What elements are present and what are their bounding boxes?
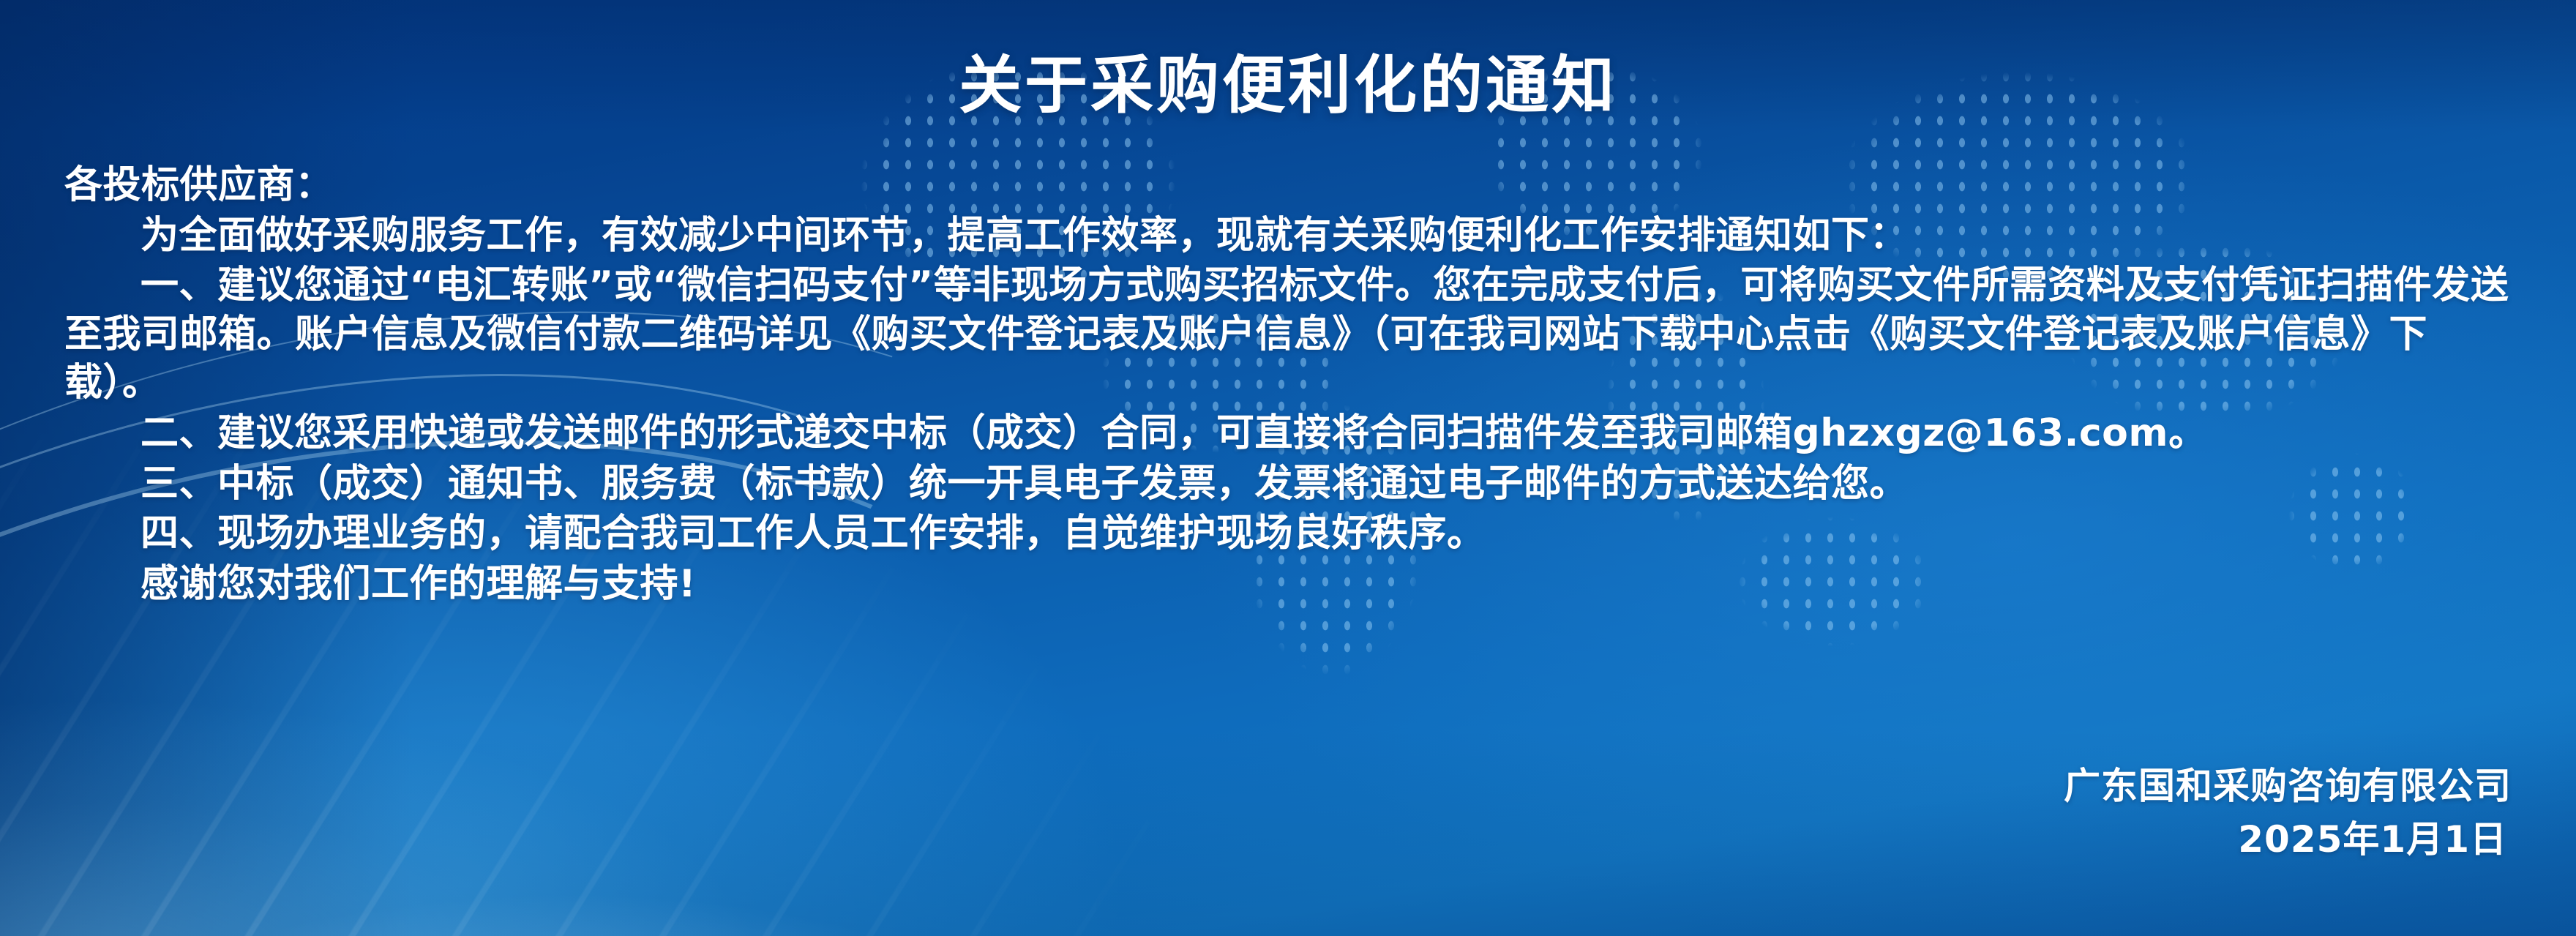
page-title: 关于采购便利化的通知 bbox=[64, 0, 2512, 119]
salutation: 各投标供应商： bbox=[64, 161, 2512, 210]
notice-banner: 关于采购便利化的通知 各投标供应商： 为全面做好采购服务工作，有效减少中间环节，… bbox=[0, 0, 2576, 936]
notice-paragraph-item-2: 二、建议您采用快递或发送邮件的形式递交中标（成交）合同，可直接将合同扫描件发至我… bbox=[64, 409, 2512, 458]
signature-block: 广东国和采购咨询有限公司 2025年1月1日 bbox=[2064, 760, 2512, 866]
notice-paragraph-item-4: 四、现场办理业务的，请配合我司工作人员工作安排，自觉维护现场良好秩序。 bbox=[64, 509, 2512, 558]
signature-date: 2025年1月1日 bbox=[2064, 813, 2512, 866]
notice-paragraph-intro: 为全面做好采购服务工作，有效减少中间环节，提高工作效率，现就有关采购便利化工作安… bbox=[64, 211, 2512, 261]
notice-paragraph-item-3: 三、中标（成交）通知书、服务费（标书款）统一开具电子发票，发票将通过电子邮件的方… bbox=[64, 460, 2512, 509]
notice-body: 各投标供应商： 为全面做好采购服务工作，有效减少中间环节，提高工作效率，现就有关… bbox=[64, 161, 2512, 608]
notice-paragraph-item-1: 一、建议您通过“电汇转账”或“微信扫码支付”等非现场方式购买招标文件。您在完成支… bbox=[64, 261, 2512, 408]
signature-company: 广东国和采购咨询有限公司 bbox=[2064, 760, 2512, 813]
notice-closing: 感谢您对我们工作的理解与支持! bbox=[64, 560, 2512, 609]
notice-content: 关于采购便利化的通知 各投标供应商： 为全面做好采购服务工作，有效减少中间环节，… bbox=[0, 0, 2576, 936]
